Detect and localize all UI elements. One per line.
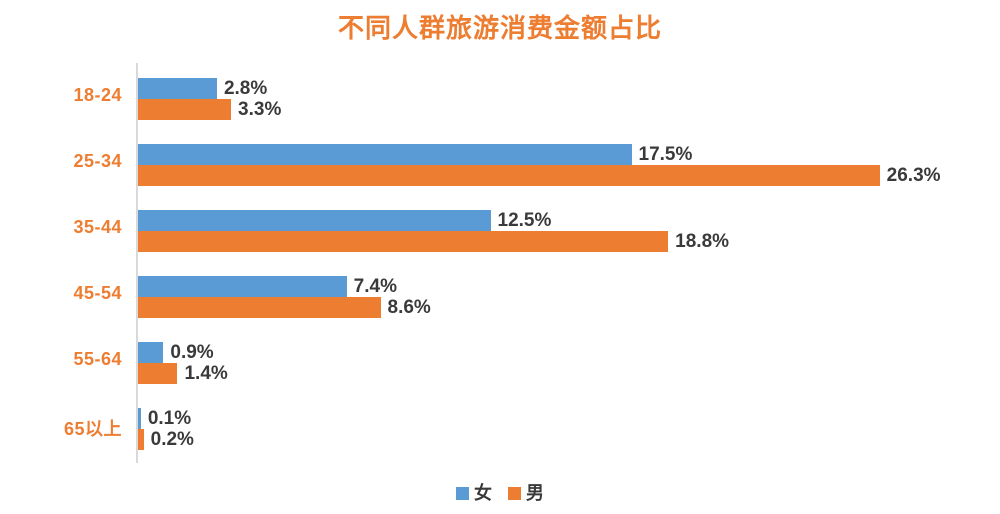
bar-value-label: 2.8% <box>217 78 267 100</box>
bar-group: 35-4412.5%18.8% <box>0 210 1000 252</box>
bar-group: 18-242.8%3.3% <box>0 78 1000 120</box>
category-label: 35-44 <box>0 217 122 238</box>
bar-group: 65以上0.1%0.2% <box>0 408 1000 450</box>
bar-value-label: 8.6% <box>381 297 431 319</box>
bar-value-label: 7.4% <box>347 276 397 298</box>
bar-value-label: 12.5% <box>491 210 552 232</box>
legend-item[interactable]: 男 <box>508 484 544 502</box>
bar-female[interactable] <box>138 78 217 99</box>
chart-title: 不同人群旅游消费金额占比 <box>0 8 1000 45</box>
bar-value-label: 26.3% <box>880 165 941 187</box>
bar-group: 55-640.9%1.4% <box>0 342 1000 384</box>
bar-value-label: 0.1% <box>141 408 191 430</box>
category-label: 25-34 <box>0 151 122 172</box>
legend-swatch-icon <box>456 487 469 500</box>
legend-item[interactable]: 女 <box>456 484 492 502</box>
bar-male[interactable] <box>138 363 177 384</box>
category-label: 18-24 <box>0 85 122 106</box>
chart-container: 不同人群旅游消费金额占比 18-242.8%3.3%25-3417.5%26.3… <box>0 0 1000 514</box>
bar-male[interactable] <box>138 297 381 318</box>
category-label: 65以上 <box>0 415 122 441</box>
bar-male[interactable] <box>138 231 668 252</box>
category-label: 45-54 <box>0 283 122 304</box>
chart-legend: 女男 <box>0 484 1000 502</box>
bar-male[interactable] <box>138 165 880 186</box>
bar-female[interactable] <box>138 342 163 363</box>
category-label: 55-64 <box>0 349 122 370</box>
bar-group: 45-547.4%8.6% <box>0 276 1000 318</box>
category-axis-line <box>136 63 138 463</box>
bar-value-label: 18.8% <box>668 231 729 253</box>
legend-label: 女 <box>474 484 492 502</box>
bar-value-label: 0.2% <box>144 429 194 451</box>
bar-value-label: 1.4% <box>177 363 227 385</box>
bar-value-label: 17.5% <box>632 144 693 166</box>
plot-area: 18-242.8%3.3%25-3417.5%26.3%35-4412.5%18… <box>0 60 1000 465</box>
bar-value-label: 3.3% <box>231 99 281 121</box>
bar-group: 25-3417.5%26.3% <box>0 144 1000 186</box>
legend-swatch-icon <box>508 487 521 500</box>
bar-female[interactable] <box>138 276 347 297</box>
bar-female[interactable] <box>138 210 491 231</box>
bar-female[interactable] <box>138 144 632 165</box>
legend-label: 男 <box>526 484 544 502</box>
bar-male[interactable] <box>138 99 231 120</box>
bar-value-label: 0.9% <box>163 342 213 364</box>
